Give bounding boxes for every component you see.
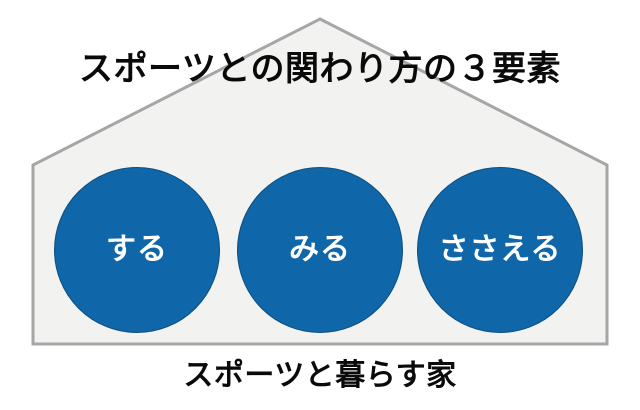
element-circle-miru[interactable]: みる [237, 167, 403, 333]
page-title: スポーツとの関わり方の３要素 [0, 47, 640, 91]
element-circle-label: する [106, 235, 168, 265]
element-circle-label: ささえる [438, 235, 561, 265]
element-circle-label: みる [289, 235, 351, 265]
element-circle-sasaeru[interactable]: ささえる [417, 167, 583, 333]
element-circle-suru[interactable]: する [54, 167, 220, 333]
diagram-canvas: スポーツとの関わり方の３要素 する みる ささえる スポーツと暮らす家 [0, 0, 640, 410]
diagram-caption: スポーツと暮らす家 [0, 356, 640, 396]
